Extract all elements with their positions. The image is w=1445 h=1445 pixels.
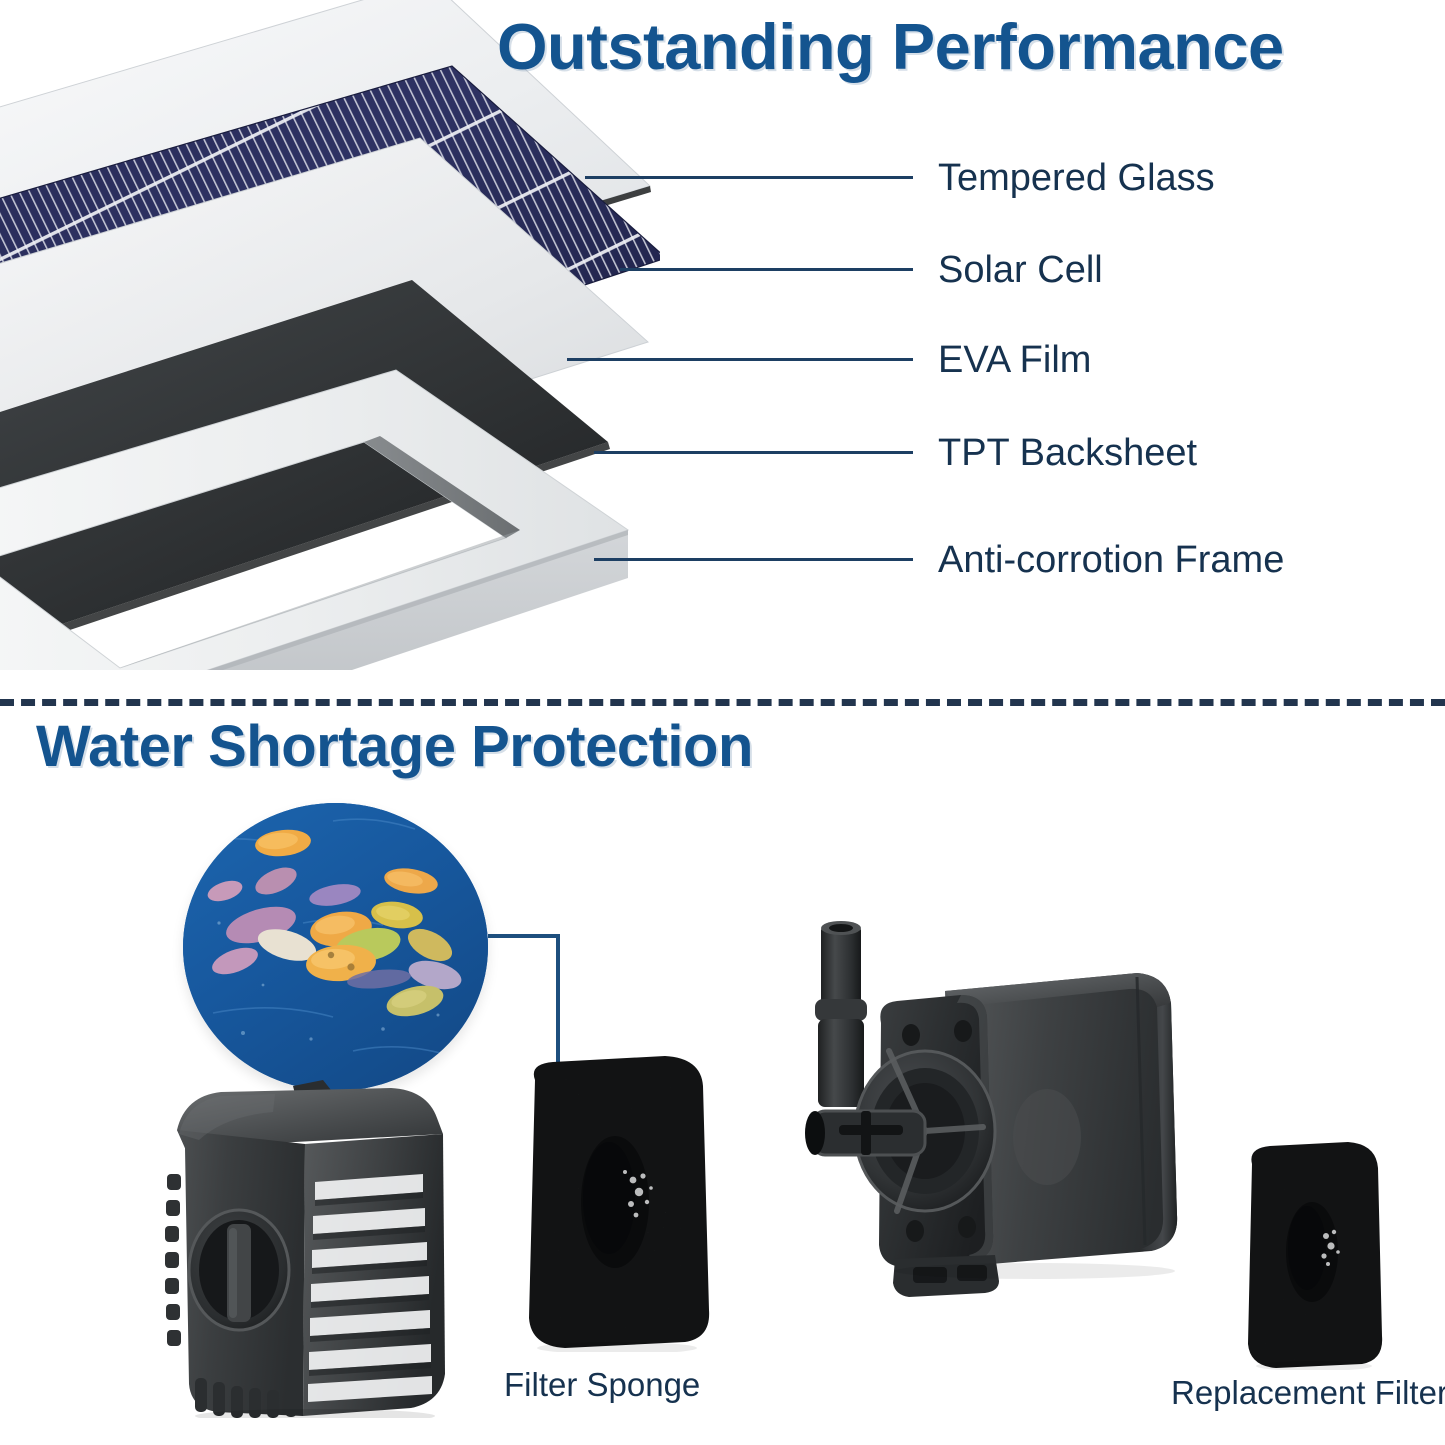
part-label-filter-sponge: Filter Sponge xyxy=(504,1368,700,1401)
callout-label-eva-film: EVA Film xyxy=(938,340,1091,380)
callout-label-solar-cell: Solar Cell xyxy=(938,250,1103,290)
exploded-solar-panel-illustration xyxy=(0,0,660,670)
callout-label-tpt-backsheet: TPT Backsheet xyxy=(938,433,1197,473)
submersible-pump-part xyxy=(785,915,1205,1315)
leader-line xyxy=(585,176,913,179)
pump-cover-part xyxy=(155,1078,485,1418)
leader-line xyxy=(594,558,913,561)
leaves-on-water-photo xyxy=(183,803,488,1091)
outlet-nozzle xyxy=(815,921,867,1107)
inlet-spout xyxy=(805,1111,925,1155)
callout-label-anti-corrosion-frame: Anti-corrotion Frame xyxy=(938,540,1284,580)
part-label-replacement-filter: Replacement Filter xyxy=(1171,1376,1445,1409)
infographic-page: Outstanding Performance Tempered Glass S… xyxy=(0,0,1445,1445)
leader-line xyxy=(594,451,913,454)
section-outstanding-performance: Outstanding Performance Tempered Glass S… xyxy=(0,0,1445,700)
section-water-shortage-protection: Water Shortage Protection xyxy=(0,700,1445,1445)
page-title-water-shortage-protection: Water Shortage Protection xyxy=(36,718,753,776)
leader-line xyxy=(620,268,913,271)
page-title-outstanding-performance: Outstanding Performance xyxy=(497,14,1284,79)
filter-sponge-part xyxy=(505,1052,720,1352)
replacement-filter-part xyxy=(1230,1140,1390,1370)
leader-line xyxy=(567,358,913,361)
callout-label-tempered-glass: Tempered Glass xyxy=(938,158,1215,198)
